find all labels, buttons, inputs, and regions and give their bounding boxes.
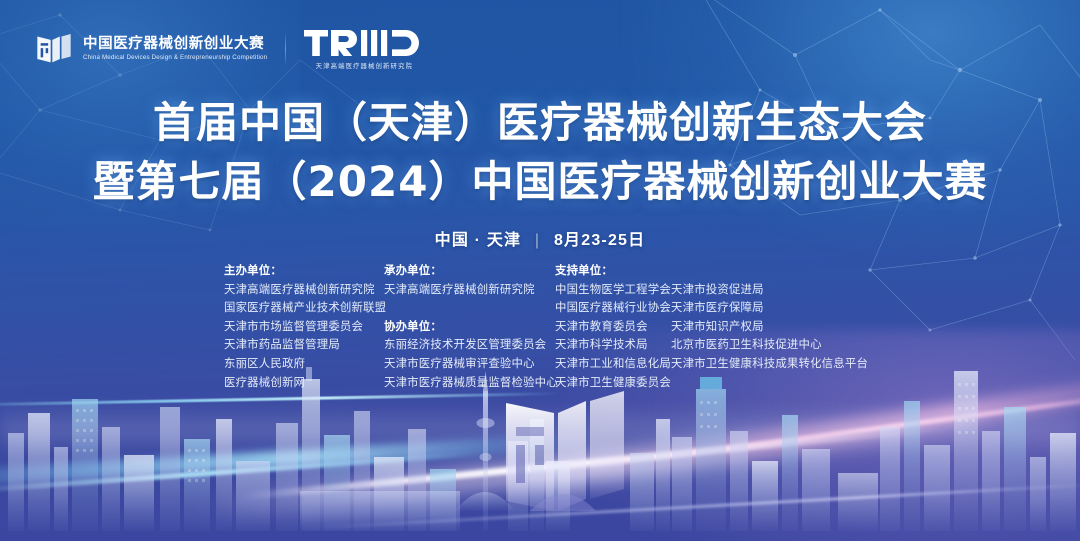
list-item: 天津市投资促进局: [671, 281, 881, 300]
list-item: 天津市教育委员会: [555, 318, 671, 337]
section-heading: 承办单位：: [384, 262, 555, 281]
list-item: 天津市知识产权局: [671, 318, 881, 337]
organizer-list: 主办单位： 天津高端医疗器械创新研究院 国家医疗器械产业技术创新联盟 天津市市场…: [224, 262, 881, 392]
list-item: 东丽区人民政府: [224, 355, 384, 374]
competition-logo-title-cn: 中国医疗器械创新创业大赛: [83, 37, 267, 53]
event-subtitle: 中国 · 天津 | 8月23-25日: [0, 226, 1080, 250]
list-item: 天津市科学技术局: [555, 336, 671, 355]
event-date: 8月23-25日: [554, 232, 645, 249]
section-heading-spacer: [671, 262, 881, 281]
event-poster: 中国医疗器械创新创业大赛 China Medical Devices Desig…: [0, 0, 1080, 541]
list-item: 天津市医疗器械质量监督检验中心: [384, 374, 555, 393]
subtitle-separator: |: [535, 232, 540, 250]
section-heading: 协办单位：: [384, 318, 555, 337]
list-item: 天津市工业和信息化局: [555, 355, 671, 374]
title-line-2: 暨第七届（2024）中国医疗器械创新创业大赛: [0, 155, 1080, 209]
institute-logo: 天津高端医疗器械创新研究院: [304, 28, 424, 70]
list-item: 天津市药品监督管理局: [224, 336, 384, 355]
competition-logo: 中国医疗器械创新创业大赛 China Medical Devices Desig…: [34, 29, 267, 69]
list-item: 天津高端医疗器械创新研究院: [384, 281, 555, 300]
event-location: 中国 · 天津: [435, 232, 522, 249]
organizer-column-organizer: 承办单位： 天津高端医疗器械创新研究院 协办单位： 东丽经济技术开发区管理委员会…: [384, 262, 555, 392]
institute-logo-subtitle: 天津高端医疗器械创新研究院: [316, 61, 413, 70]
section-gap: [384, 299, 555, 318]
competition-logo-title-en: China Medical Devices Design & Entrepren…: [83, 55, 267, 62]
list-item: 中国医疗器械行业协会: [555, 299, 671, 318]
open-book-device-logo-mark: [34, 29, 74, 69]
organizer-column-host: 主办单位： 天津高端医疗器械创新研究院 国家医疗器械产业技术创新联盟 天津市市场…: [224, 262, 384, 392]
list-item: 北京市医药卫生科技促进中心: [671, 336, 881, 355]
list-item: 天津高端医疗器械创新研究院: [224, 281, 384, 300]
list-item: 医疗器械创新网: [224, 374, 384, 393]
triid-wordmark: [304, 28, 424, 58]
section-heading: 支持单位：: [555, 262, 671, 281]
title-line-1: 首届中国（天津）医疗器械创新生态大会: [0, 96, 1080, 150]
light-streak-cyan-wide: [0, 431, 610, 488]
organizer-column-supporters-a: 支持单位： 中国生物医学工程学会 中国医疗器械行业协会 天津市教育委员会 天津市…: [555, 262, 671, 392]
list-item: 天津市医疗器械审评查验中心: [384, 355, 555, 374]
section-heading: 主办单位：: [224, 262, 384, 281]
poster-header: 中国医疗器械创新创业大赛 China Medical Devices Desig…: [34, 28, 424, 70]
list-item: 天津市市场监督管理委员会: [224, 318, 384, 337]
list-item: 天津市医疗保障局: [671, 299, 881, 318]
organizer-column-supporters-b: 天津市投资促进局 天津市医疗保障局 天津市知识产权局 北京市医药卫生科技促进中心…: [671, 262, 881, 374]
light-streak-cyan-thin: [0, 392, 560, 407]
light-streak-cyan-lower: [0, 451, 479, 494]
list-item: 天津市卫生健康科技成果转化信息平台: [671, 355, 881, 374]
list-item: 国家医疗器械产业技术创新联盟: [224, 299, 384, 318]
header-divider: [285, 32, 286, 66]
list-item: 东丽经济技术开发区管理委员会: [384, 336, 555, 355]
list-item: 天津市卫生健康委员会: [555, 374, 671, 393]
poster-titles: 首届中国（天津）医疗器械创新生态大会 暨第七届（2024）中国医疗器械创新创业大…: [0, 96, 1080, 209]
list-item: 中国生物医学工程学会: [555, 281, 671, 300]
